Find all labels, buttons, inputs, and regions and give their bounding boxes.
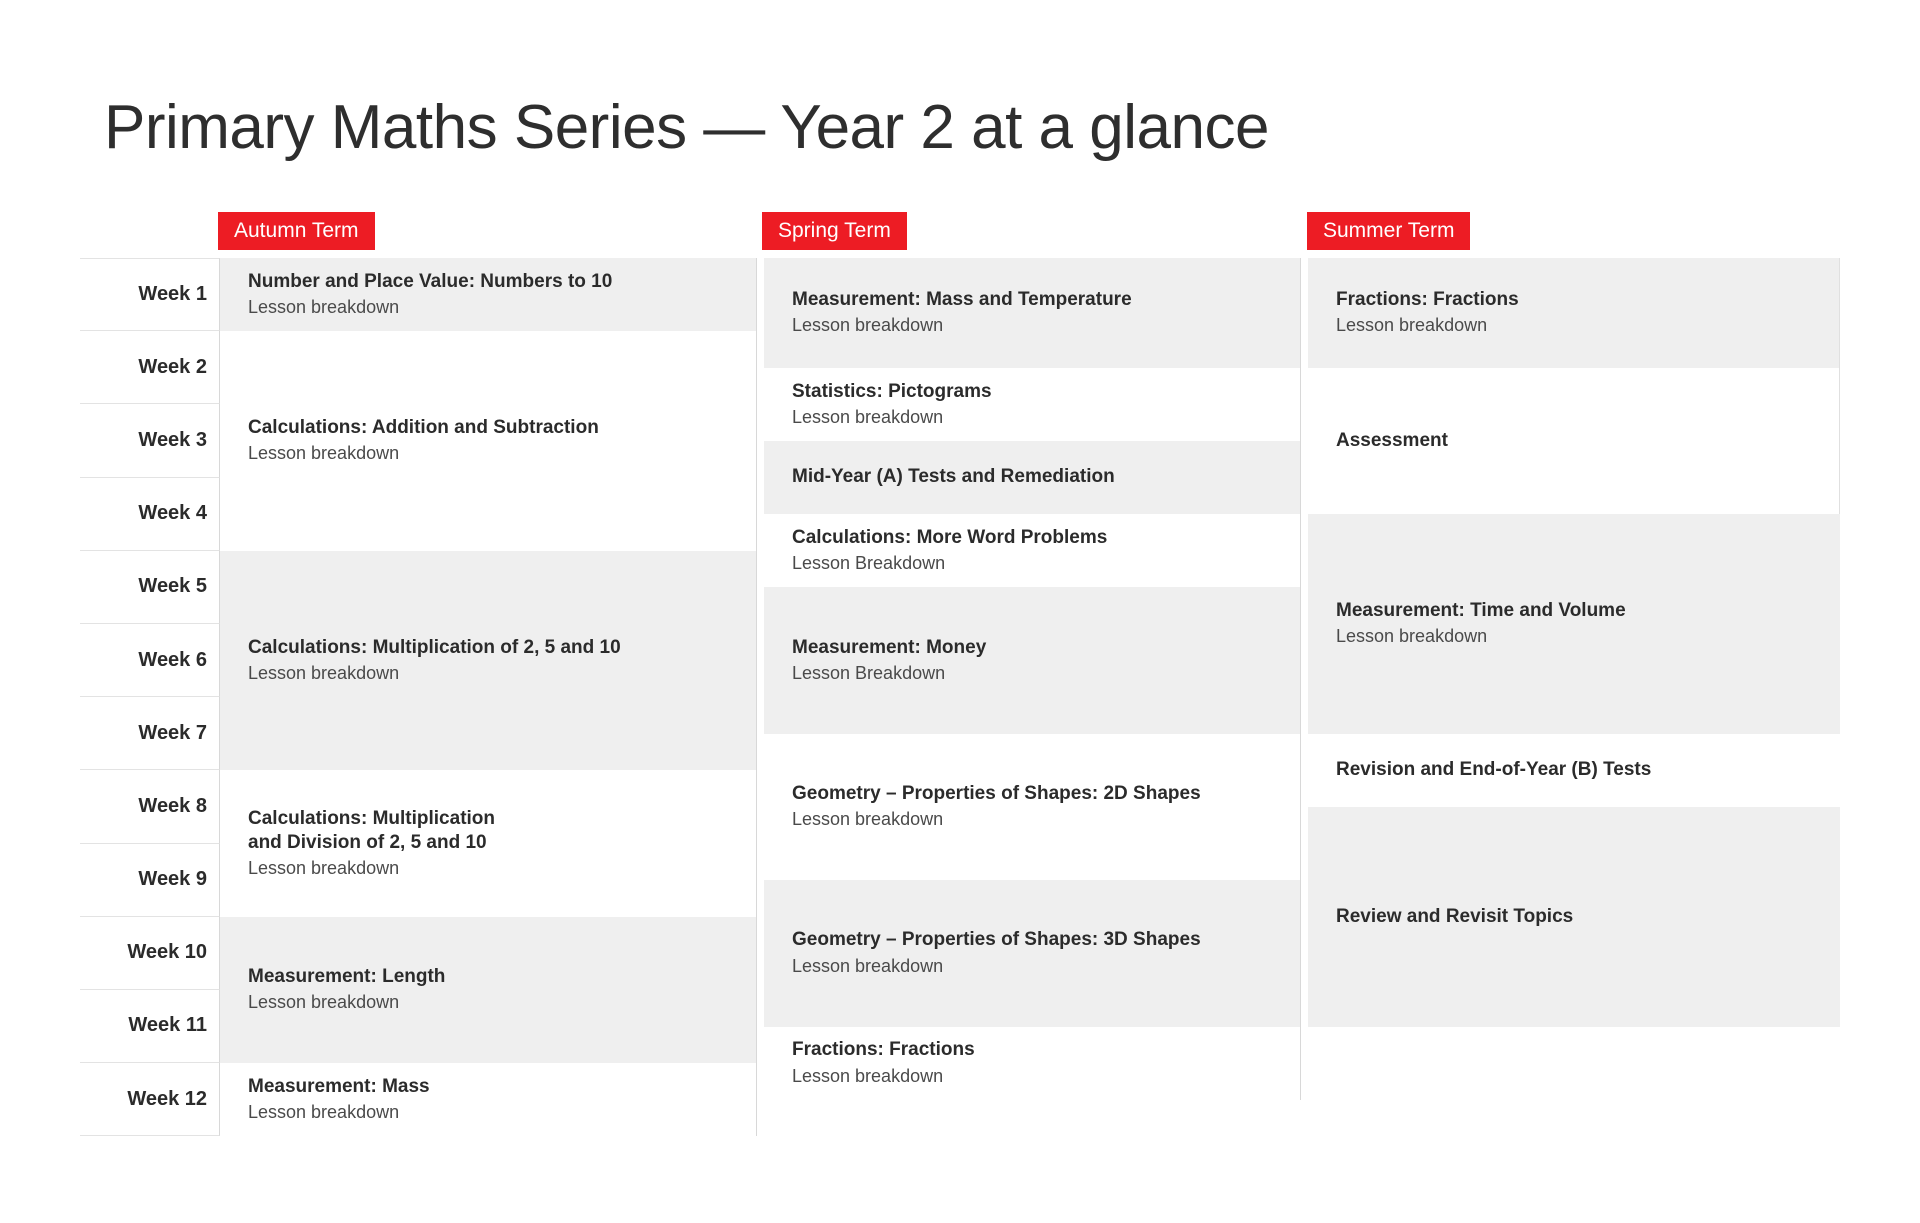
topic-title: Fractions: Fractions bbox=[792, 1038, 1300, 1062]
lesson-breakdown-link[interactable]: Lesson breakdown bbox=[248, 442, 756, 465]
topic-title: Calculations: More Word Problems bbox=[792, 526, 1300, 550]
term-header-summer: Summer Term bbox=[1307, 212, 1470, 250]
lesson-breakdown-link[interactable]: Lesson breakdown bbox=[792, 955, 1300, 978]
week-label-text: Week 4 bbox=[138, 502, 207, 525]
topic-title: Measurement: Time and Volume bbox=[1336, 599, 1840, 623]
topic-block[interactable]: Fractions: FractionsLesson breakdown bbox=[1308, 258, 1840, 368]
lesson-breakdown-link[interactable]: Lesson breakdown bbox=[248, 662, 756, 685]
lesson-breakdown-link[interactable]: Lesson breakdown bbox=[792, 808, 1300, 831]
topic-block[interactable]: Measurement: Time and VolumeLesson break… bbox=[1308, 514, 1840, 734]
week-label-text: Week 6 bbox=[138, 649, 207, 672]
week-row-label: Week 5 bbox=[80, 551, 220, 624]
week-row-label: Week 6 bbox=[80, 624, 220, 697]
lesson-breakdown-link[interactable]: Lesson breakdown bbox=[248, 1101, 756, 1124]
week-row-label: Week 3 bbox=[80, 404, 220, 477]
term-header-summer-label: Summer Term bbox=[1323, 219, 1454, 243]
topic-block[interactable]: Calculations: Multiplication and Divisio… bbox=[220, 770, 756, 916]
week-label-text: Week 11 bbox=[128, 1014, 207, 1037]
topic-block[interactable]: Review and Revisit Topics bbox=[1308, 807, 1840, 1027]
topic-block[interactable]: Measurement: MoneyLesson Breakdown bbox=[764, 587, 1300, 733]
week-row-label: Week 2 bbox=[80, 331, 220, 404]
week-row-label: Week 4 bbox=[80, 478, 220, 551]
topic-block[interactable]: Calculations: Multiplication of 2, 5 and… bbox=[220, 551, 756, 771]
week-label-text: Week 2 bbox=[138, 356, 207, 379]
topic-title: Assessment bbox=[1336, 429, 1839, 453]
topic-title: Measurement: Mass bbox=[248, 1075, 756, 1099]
topic-title: Fractions: Fractions bbox=[1336, 288, 1839, 312]
term-column-summer: Fractions: FractionsLesson breakdownAsse… bbox=[1308, 258, 1840, 1027]
week-row-label: Week 7 bbox=[80, 697, 220, 770]
week-label-text: Week 12 bbox=[127, 1088, 207, 1111]
week-label-text: Week 7 bbox=[138, 722, 207, 745]
topic-block[interactable]: Calculations: More Word ProblemsLesson B… bbox=[764, 514, 1300, 587]
week-row-label: Week 11 bbox=[80, 990, 220, 1063]
week-row-label: Week 8 bbox=[80, 770, 220, 843]
topic-title: Review and Revisit Topics bbox=[1336, 905, 1840, 929]
topic-block[interactable]: Calculations: Addition and SubtractionLe… bbox=[220, 331, 756, 551]
topic-title: Revision and End-of-Year (B) Tests bbox=[1336, 758, 1840, 782]
topic-title: Measurement: Length bbox=[248, 965, 756, 989]
lesson-breakdown-link[interactable]: Lesson breakdown bbox=[1336, 625, 1840, 648]
topic-block[interactable]: Revision and End-of-Year (B) Tests bbox=[1308, 734, 1840, 807]
lesson-breakdown-link[interactable]: Lesson Breakdown bbox=[792, 552, 1300, 575]
week-column: Week 1Week 2Week 3Week 4Week 5Week 6Week… bbox=[80, 258, 220, 1136]
lesson-breakdown-link[interactable]: Lesson Breakdown bbox=[792, 662, 1300, 685]
term-header-autumn-label: Autumn Term bbox=[234, 219, 359, 243]
topic-title: Number and Place Value: Numbers to 10 bbox=[248, 270, 756, 294]
term-header-autumn: Autumn Term bbox=[218, 212, 375, 250]
topic-title: Measurement: Mass and Temperature bbox=[792, 288, 1300, 312]
week-label-text: Week 5 bbox=[138, 575, 207, 598]
week-row-label: Week 12 bbox=[80, 1063, 220, 1136]
topic-block[interactable]: Number and Place Value: Numbers to 10Les… bbox=[220, 258, 756, 331]
week-row-label: Week 10 bbox=[80, 917, 220, 990]
topic-block[interactable]: Fractions: FractionsLesson breakdown bbox=[764, 1027, 1300, 1100]
lesson-breakdown-link[interactable]: Lesson breakdown bbox=[248, 991, 756, 1014]
term-header-spring: Spring Term bbox=[762, 212, 907, 250]
lesson-breakdown-link[interactable]: Lesson breakdown bbox=[1336, 314, 1839, 337]
topic-block[interactable]: Statistics: PictogramsLesson breakdown bbox=[764, 368, 1300, 441]
topic-title: Calculations: Multiplication and Divisio… bbox=[248, 807, 756, 856]
topic-block[interactable]: Assessment bbox=[1308, 368, 1840, 514]
topic-block[interactable]: Geometry – Properties of Shapes: 3D Shap… bbox=[764, 880, 1300, 1026]
lesson-breakdown-link[interactable]: Lesson breakdown bbox=[792, 314, 1300, 337]
topic-block[interactable]: Measurement: Mass and TemperatureLesson … bbox=[764, 258, 1300, 368]
week-row-label: Week 9 bbox=[80, 844, 220, 917]
week-label-text: Week 3 bbox=[138, 429, 207, 452]
topic-title: Geometry – Properties of Shapes: 2D Shap… bbox=[792, 782, 1300, 806]
week-label-text: Week 10 bbox=[127, 941, 207, 964]
topic-block[interactable]: Mid-Year (A) Tests and Remediation bbox=[764, 441, 1300, 514]
lesson-breakdown-link[interactable]: Lesson breakdown bbox=[792, 1065, 1300, 1088]
week-row-label: Week 1 bbox=[80, 258, 220, 331]
topic-title: Measurement: Money bbox=[792, 636, 1300, 660]
page-title: Primary Maths Series — Year 2 at a glanc… bbox=[104, 94, 1269, 162]
topic-block[interactable]: Measurement: LengthLesson breakdown bbox=[220, 917, 756, 1063]
topic-block[interactable]: Measurement: MassLesson breakdown bbox=[220, 1063, 756, 1136]
week-label-text: Week 8 bbox=[138, 795, 207, 818]
term-column-autumn: Number and Place Value: Numbers to 10Les… bbox=[220, 258, 757, 1136]
topic-block[interactable]: Geometry – Properties of Shapes: 2D Shap… bbox=[764, 734, 1300, 880]
week-label-text: Week 9 bbox=[138, 868, 207, 891]
topic-title: Statistics: Pictograms bbox=[792, 380, 1300, 404]
term-column-spring: Measurement: Mass and TemperatureLesson … bbox=[764, 258, 1301, 1100]
lesson-breakdown-link[interactable]: Lesson breakdown bbox=[248, 296, 756, 319]
lesson-breakdown-link[interactable]: Lesson breakdown bbox=[792, 406, 1300, 429]
topic-title: Mid-Year (A) Tests and Remediation bbox=[792, 465, 1300, 489]
topic-title: Geometry – Properties of Shapes: 3D Shap… bbox=[792, 928, 1300, 952]
topic-title: Calculations: Multiplication of 2, 5 and… bbox=[248, 636, 756, 660]
week-label-text: Week 1 bbox=[138, 283, 207, 306]
term-header-spring-label: Spring Term bbox=[778, 219, 891, 243]
topic-title: Calculations: Addition and Subtraction bbox=[248, 416, 756, 440]
lesson-breakdown-link[interactable]: Lesson breakdown bbox=[248, 857, 756, 880]
